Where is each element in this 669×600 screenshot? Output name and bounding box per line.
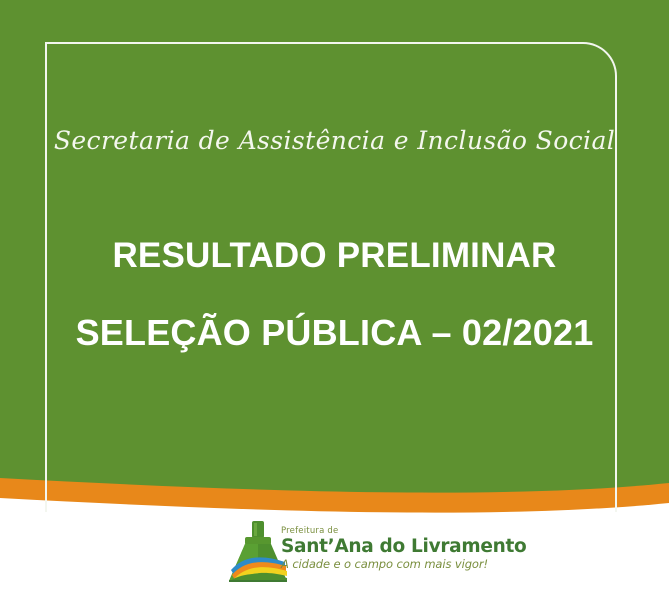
page-subtitle: SELEÇÃO PÚBLICA – 02/2021 — [0, 315, 669, 351]
logo-prefix: Prefeitura de — [281, 526, 461, 536]
page-title: RESULTADO PRELIMINAR — [0, 238, 669, 273]
logo-wordmark: Prefeitura de Sant’Ana do Livramento A c… — [281, 526, 461, 571]
headline-block: RESULTADO PRELIMINAR SELEÇÃO PÚBLICA – 0… — [0, 238, 669, 351]
department-line: Secretaria de Assistência e Inclusão Soc… — [0, 126, 669, 155]
poster-canvas: Secretaria de Assistência e Inclusão Soc… — [0, 0, 669, 600]
logo-city-name: Sant’Ana do Livramento — [281, 536, 461, 557]
municipal-logo: Prefeitura de Sant’Ana do Livramento A c… — [225, 520, 455, 586]
logo-tagline: A cidade e o campo com mais vigor! — [281, 557, 461, 571]
